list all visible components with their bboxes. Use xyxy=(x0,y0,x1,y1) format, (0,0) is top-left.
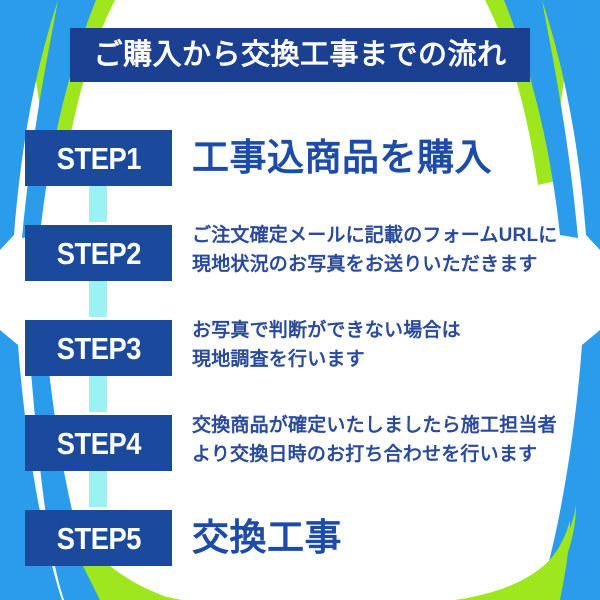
step-badge-label-3: STEP3 xyxy=(56,333,140,364)
step-description-3-line-2: 現地調査を行います xyxy=(192,345,592,374)
step-description-4: 交換商品が確定いたしましたら施工担当者 より交換日時のお打ち合わせを行います xyxy=(192,411,592,470)
step-description-4-line-2: より交換日時のお打ち合わせを行います xyxy=(192,440,592,469)
step-row-1: STEP1 工事込商品を購入 xyxy=(0,130,600,186)
step-row-5: STEP5 交換工事 xyxy=(0,510,600,566)
step-row-3: STEP3 お写真で判断ができない場合は 現地調査を行います xyxy=(0,320,600,376)
step-row-2: STEP2 ご注文確定メールに記載のフォームURLに 現地状況のお写真をお送りい… xyxy=(0,225,600,281)
top-right-blue-shape xyxy=(542,0,600,250)
connector-step4-step5 xyxy=(89,471,107,507)
step-description-2-line-2: 現地状況のお写真をお送りいただきます xyxy=(192,250,592,279)
step-badge-3: STEP3 xyxy=(25,320,172,376)
step-description-1-line-1: 工事込商品を購入 xyxy=(192,137,592,178)
step-description-3-line-1: お写真で判断ができない場合は xyxy=(192,316,592,345)
step-description-4-line-1: 交換商品が確定いたしましたら施工担当者 xyxy=(192,411,592,440)
step-description-2: ご注文確定メールに記載のフォームURLに 現地状況のお写真をお送りいただきます xyxy=(192,221,592,280)
title-banner: ご購入から交換工事までの流れ xyxy=(70,28,530,82)
step-description-5: 交換工事 xyxy=(192,517,592,558)
step-description-3: お写真で判断ができない場合は 現地調査を行います xyxy=(192,316,592,375)
step-badge-2: STEP2 xyxy=(25,225,172,281)
step-description-2-line-1: ご注文確定メールに記載のフォームURLに xyxy=(192,221,592,250)
step-badge-1: STEP1 xyxy=(25,130,172,186)
step-badge-label-1: STEP1 xyxy=(56,143,140,174)
connector-step1-step2 xyxy=(89,186,107,222)
process-flow-infographic: ご購入から交換工事までの流れ STEP1 工事込商品を購入 STEP2 ご注文確… xyxy=(0,0,600,600)
step-badge-label-2: STEP2 xyxy=(56,238,140,269)
step-row-4: STEP4 交換商品が確定いたしましたら施工担当者 より交換日時のお打ち合わせを… xyxy=(0,415,600,471)
step-badge-label-4: STEP4 xyxy=(56,428,140,459)
title-text: ご購入から交換工事までの流れ xyxy=(93,41,506,70)
step-badge-label-5: STEP5 xyxy=(56,523,140,554)
top-left-blue-shape xyxy=(0,0,58,250)
step-badge-5: STEP5 xyxy=(25,510,172,566)
connector-step2-step3 xyxy=(89,281,107,317)
step-description-1: 工事込商品を購入 xyxy=(192,137,592,178)
step-badge-4: STEP4 xyxy=(25,415,172,471)
connector-step3-step4 xyxy=(89,376,107,412)
step-description-5-line-1: 交換工事 xyxy=(192,517,592,558)
